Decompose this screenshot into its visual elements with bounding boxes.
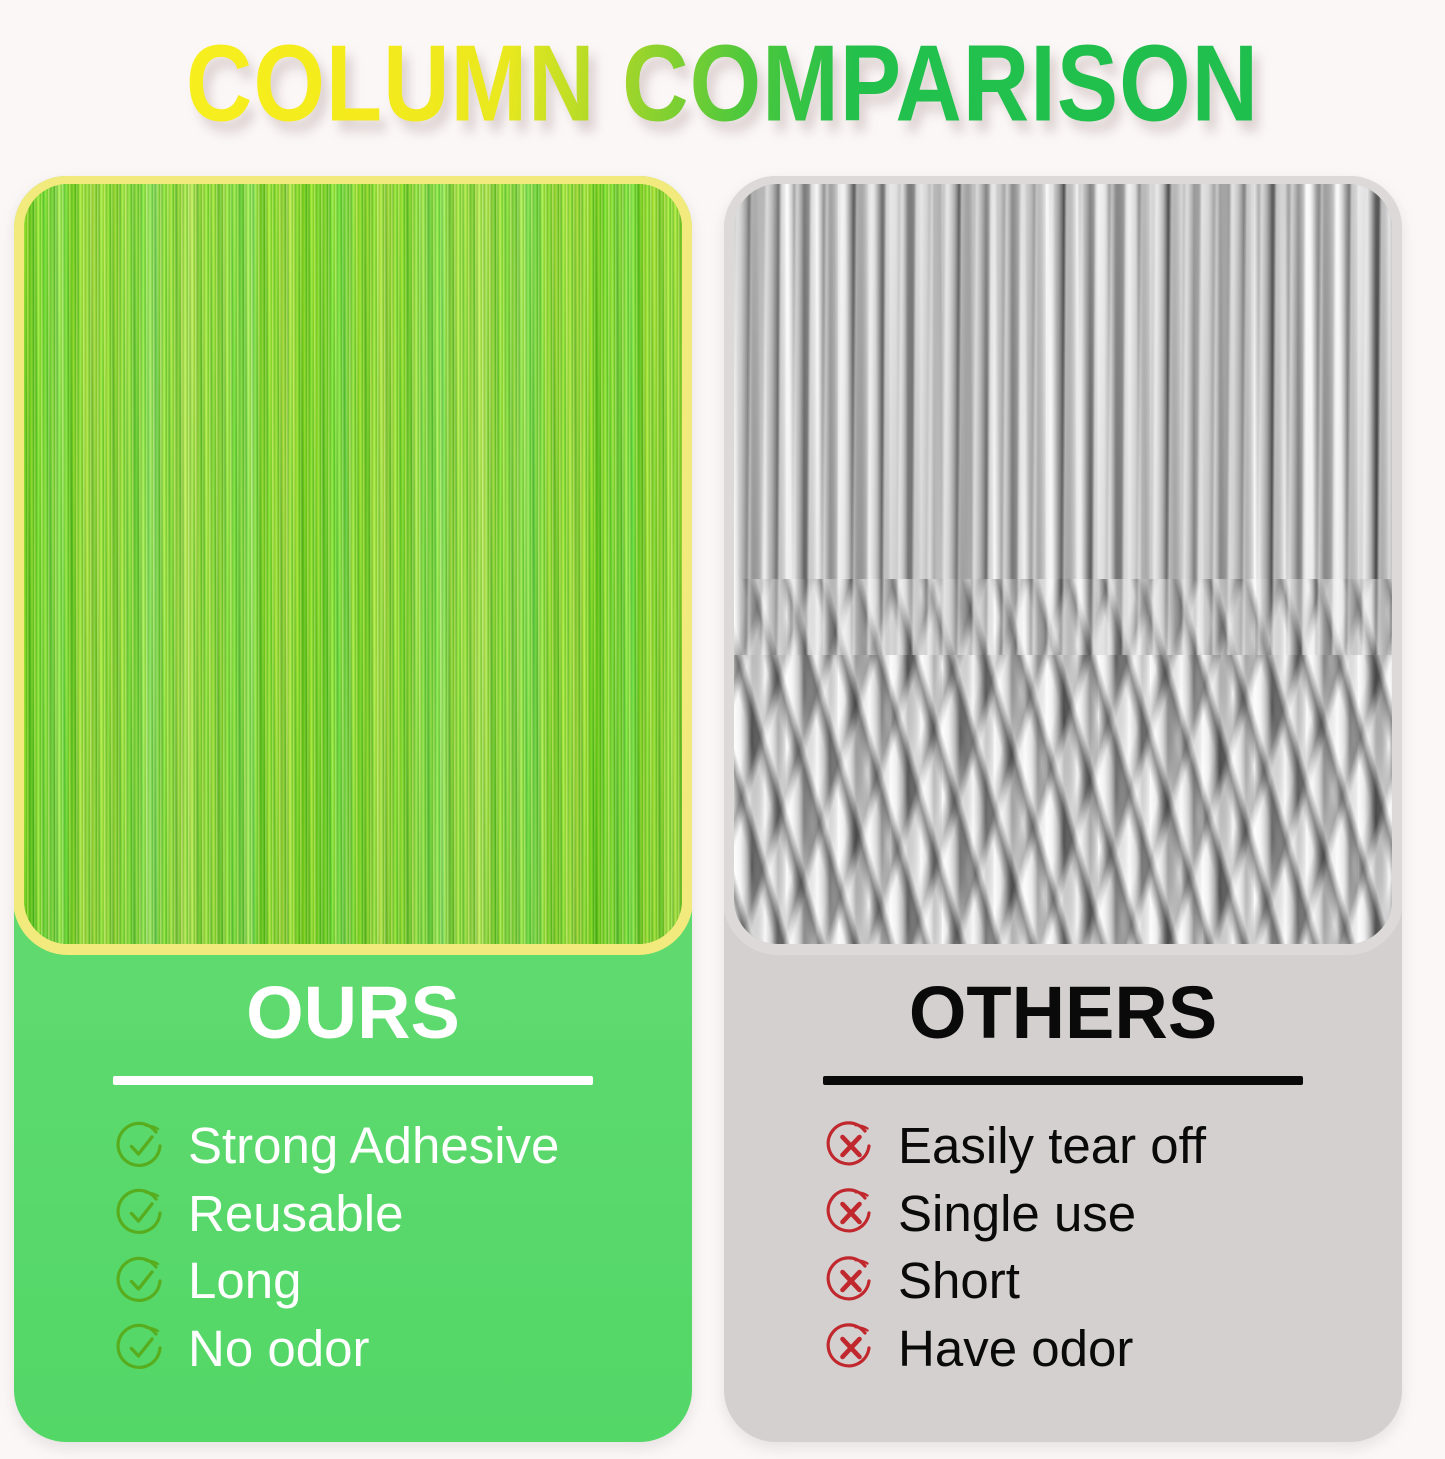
comparison-panel-others: OTHERS Easily tear off Singl (724, 176, 1402, 1442)
panel-body-ours: OURS Strong Adhesive Reusable (14, 964, 692, 1442)
feature-list-others: Easily tear off Single use Short (768, 1119, 1358, 1375)
feature-label: Single use (898, 1187, 1136, 1241)
list-item: Long (116, 1254, 648, 1308)
title-bar: COLUMN COMPARISON (0, 0, 1445, 168)
check-circle-icon (116, 1121, 166, 1171)
comparison-panel-ours: OURS Strong Adhesive Reusable (14, 176, 692, 1442)
panel-heading-ours: OURS (58, 976, 648, 1050)
panel-heading-others: OTHERS (768, 976, 1358, 1050)
list-item: Easily tear off (826, 1119, 1358, 1173)
feature-label: Easily tear off (898, 1119, 1206, 1173)
product-photo-ours (24, 184, 682, 944)
list-item: No odor (116, 1322, 648, 1376)
list-item: Reusable (116, 1187, 648, 1241)
cross-circle-icon (826, 1121, 876, 1171)
check-circle-icon (116, 1256, 166, 1306)
feature-list-ours: Strong Adhesive Reusable Long (58, 1119, 648, 1375)
cross-circle-icon (826, 1323, 876, 1373)
product-photo-others (734, 184, 1392, 944)
list-item: Strong Adhesive (116, 1119, 648, 1173)
page-title: COLUMN COMPARISON (186, 30, 1259, 139)
silver-fringe-curtain-image (734, 184, 1392, 944)
feature-label: Have odor (898, 1322, 1133, 1376)
cross-circle-icon (826, 1256, 876, 1306)
check-circle-icon (116, 1323, 166, 1373)
feature-label: No odor (188, 1322, 369, 1376)
green-fringe-curtain-image (24, 184, 682, 944)
heading-divider-ours (113, 1076, 593, 1085)
list-item: Short (826, 1254, 1358, 1308)
heading-divider-others (823, 1076, 1303, 1085)
list-item: Have odor (826, 1322, 1358, 1376)
feature-label: Reusable (188, 1187, 403, 1241)
feature-label: Short (898, 1254, 1020, 1308)
list-item: Single use (826, 1187, 1358, 1241)
cross-circle-icon (826, 1188, 876, 1238)
feature-label: Long (188, 1254, 301, 1308)
check-circle-icon (116, 1188, 166, 1238)
panel-body-others: OTHERS Easily tear off Singl (724, 964, 1402, 1442)
feature-label: Strong Adhesive (188, 1119, 559, 1173)
